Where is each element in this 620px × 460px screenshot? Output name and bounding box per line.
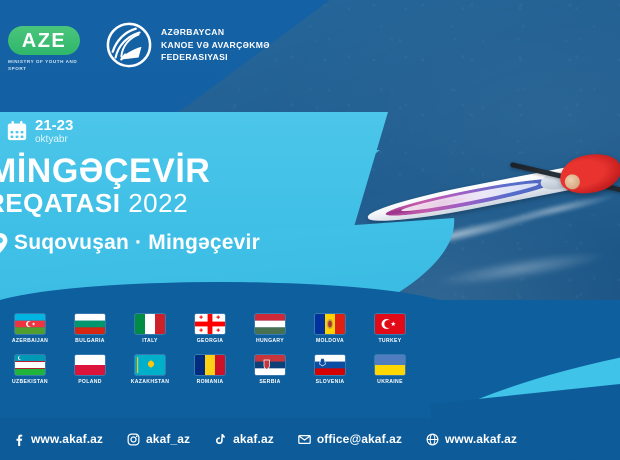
- contact-footer: www.akaf.az akaf_az akaf.az office@akaf.…: [0, 424, 620, 454]
- flag-uz-icon: [15, 355, 45, 375]
- flag-label: TURKEY: [378, 338, 401, 344]
- flag-bg-icon: [75, 314, 105, 334]
- footer-item-tiktok[interactable]: akaf.az: [214, 432, 274, 446]
- footer-text: akaf_az: [146, 432, 190, 446]
- event-subtitle-word: REQATASI: [0, 188, 120, 218]
- event-date-range: 21-23: [35, 118, 73, 134]
- flag-cell-serbia: SERBIA: [240, 355, 300, 385]
- footer-text: www.akaf.az: [31, 432, 103, 446]
- flag-cell-poland: POLAND: [60, 355, 120, 385]
- flag-ge-icon: [195, 314, 225, 334]
- event-year: 2022: [128, 188, 188, 218]
- flag-si-icon: [315, 355, 345, 375]
- flag-label: SERBIA: [259, 379, 280, 385]
- footer-item-website[interactable]: www.akaf.az: [426, 432, 517, 446]
- flag-label: GEORGIA: [197, 338, 224, 344]
- flag-ua-icon: [375, 355, 405, 375]
- flag-pl-icon: [75, 355, 105, 375]
- flag-cell-kazakhstan: KAZAKHSTAN: [120, 355, 180, 385]
- map-pin-icon: [0, 233, 8, 253]
- flag-kz-icon: [135, 355, 165, 375]
- flag-rs-icon: [255, 355, 285, 375]
- calendar-icon: [6, 120, 28, 142]
- flag-label: UKRAINE: [377, 379, 403, 385]
- event-info-block: 21-23 oktyabr MİNGƏÇEVİR REQATASI 2022 S…: [0, 118, 400, 255]
- canoe-federation-emblem-icon: [106, 22, 152, 68]
- flag-cell-moldova: MOLDOVA: [300, 314, 360, 344]
- federation-line-2: Kanoe və Avarçəkmə: [161, 39, 270, 51]
- flag-cell-romania: ROMANIA: [180, 355, 240, 385]
- event-poster: AZE MINISTRY OF YOUTH AND SPORT Azərbayc…: [0, 0, 620, 460]
- flag-cell-turkey: TURKEY: [360, 314, 420, 344]
- federation-line-1: Azərbaycan: [161, 26, 270, 38]
- flag-row-1: AZERBAIJAN BULGARIA: [0, 314, 420, 344]
- facebook-icon: [12, 433, 25, 446]
- event-date-month: oktyabr: [35, 134, 73, 145]
- federation-line-3: Federasiyası: [161, 51, 270, 63]
- ministry-logo: AZE MINISTRY OF YOUTH AND SPORT: [8, 26, 86, 73]
- flag-cell-hungary: HUNGARY: [240, 314, 300, 344]
- flag-label: AZERBAIJAN: [12, 338, 48, 344]
- instagram-icon: [127, 433, 140, 446]
- flag-cell-georgia: GEORGIA: [180, 314, 240, 344]
- flag-hu-icon: [255, 314, 285, 334]
- flag-label: POLAND: [78, 379, 102, 385]
- footer-text: office@akaf.az: [317, 432, 402, 446]
- event-date-row: 21-23 oktyabr: [0, 118, 400, 145]
- flag-label: ROMANIA: [197, 379, 224, 385]
- event-location-row: Suqovuşan · Mingəçevir: [0, 231, 400, 255]
- flag-label: ITALY: [142, 338, 158, 344]
- flag-row-2: UZBEKISTAN POLAND: [0, 355, 420, 385]
- participating-nations: AZERBAIJAN BULGARIA: [0, 314, 420, 385]
- event-subtitle: REQATASI 2022: [0, 190, 400, 217]
- flag-label: UZBEKISTAN: [12, 379, 48, 385]
- flag-cell-italy: ITALY: [120, 314, 180, 344]
- flag-tr-icon: [375, 314, 405, 334]
- globe-icon: [426, 433, 439, 446]
- aze-pill-badge: AZE: [8, 26, 80, 55]
- flag-it-icon: [135, 314, 165, 334]
- tiktok-icon: [214, 433, 227, 446]
- flag-md-icon: [315, 314, 345, 334]
- poster-header: AZE MINISTRY OF YOUTH AND SPORT Azərbayc…: [0, 0, 620, 96]
- email-icon: [298, 433, 311, 446]
- flag-az-icon: [15, 314, 45, 334]
- flag-cell-slovenia: SLOVENIA: [300, 355, 360, 385]
- flag-cell-bulgaria: BULGARIA: [60, 314, 120, 344]
- footer-text: www.akaf.az: [445, 432, 517, 446]
- flag-cell-ukraine: UKRAINE: [360, 355, 420, 385]
- athlete-torso: [557, 149, 620, 198]
- aze-abbr-text: AZE: [22, 31, 67, 51]
- event-location: Suqovuşan · Mingəçevir: [14, 231, 260, 255]
- footer-text: akaf.az: [233, 432, 274, 446]
- flag-ro-icon: [195, 355, 225, 375]
- page-title: MİNGƏÇEVİR: [0, 154, 400, 188]
- flag-label: MOLDOVA: [316, 338, 344, 344]
- flag-label: SLOVENIA: [316, 379, 345, 385]
- flag-label: HUNGARY: [256, 338, 284, 344]
- flag-cell-azerbaijan: AZERBAIJAN: [0, 314, 60, 344]
- event-date-texts: 21-23 oktyabr: [35, 118, 73, 145]
- footer-item-instagram[interactable]: akaf_az: [127, 432, 190, 446]
- flag-label: BULGARIA: [75, 338, 105, 344]
- federation-logo: Azərbaycan Kanoe və Avarçəkmə Federasiya…: [106, 22, 270, 68]
- flag-cell-uzbekistan: UZBEKISTAN: [0, 355, 60, 385]
- federation-name: Azərbaycan Kanoe və Avarçəkmə Federasiya…: [161, 26, 270, 63]
- flag-label: KAZAKHSTAN: [131, 379, 170, 385]
- footer-item-email[interactable]: office@akaf.az: [298, 432, 402, 446]
- ministry-subtitle: MINISTRY OF YOUTH AND SPORT: [8, 59, 86, 73]
- footer-item-facebook[interactable]: www.akaf.az: [12, 432, 103, 446]
